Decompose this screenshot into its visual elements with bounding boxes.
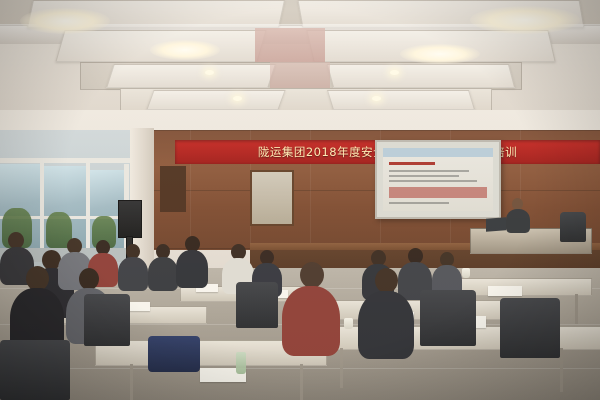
audience-torso — [358, 291, 414, 359]
audience-head — [375, 268, 398, 293]
seated-audience-member — [118, 244, 148, 290]
photo-scene: 陇运集团2018年度安全管理与职业健康教育培训 — [0, 0, 600, 400]
ceiling-downlight — [233, 96, 242, 101]
wall-dark-panel — [160, 166, 186, 212]
paper-cup — [462, 268, 470, 278]
conference-chair — [500, 298, 560, 358]
projector-screen — [375, 140, 501, 219]
audience-torso — [176, 250, 208, 288]
presenter-torso — [506, 209, 530, 233]
loudspeaker — [118, 200, 142, 238]
water-bottle — [236, 352, 246, 374]
conference-chair — [420, 290, 476, 346]
paper-cup — [344, 318, 353, 329]
stage-chair — [560, 212, 586, 242]
laptop — [486, 217, 506, 231]
handout-papers — [488, 286, 522, 296]
ceiling-downlight — [372, 96, 381, 101]
audience-torso — [118, 257, 148, 291]
projected-slide — [383, 148, 493, 211]
wall-notice-panel — [250, 170, 294, 226]
ceiling-downlight — [205, 70, 214, 75]
audience-head — [79, 268, 99, 290]
conference-chair — [84, 294, 130, 346]
shoulder-bag — [148, 336, 200, 372]
seated-audience-member — [358, 268, 414, 356]
seated-audience-member — [176, 236, 208, 286]
audience-head — [300, 262, 324, 288]
conference-chair — [0, 340, 70, 400]
audience-torso — [282, 286, 340, 356]
conference-chair — [236, 282, 278, 328]
seated-audience-member — [282, 262, 340, 354]
seated-audience-member — [148, 244, 178, 290]
audience-torso — [148, 257, 178, 291]
presenter-at-desk — [505, 198, 531, 234]
ceiling-downlight — [390, 70, 399, 75]
